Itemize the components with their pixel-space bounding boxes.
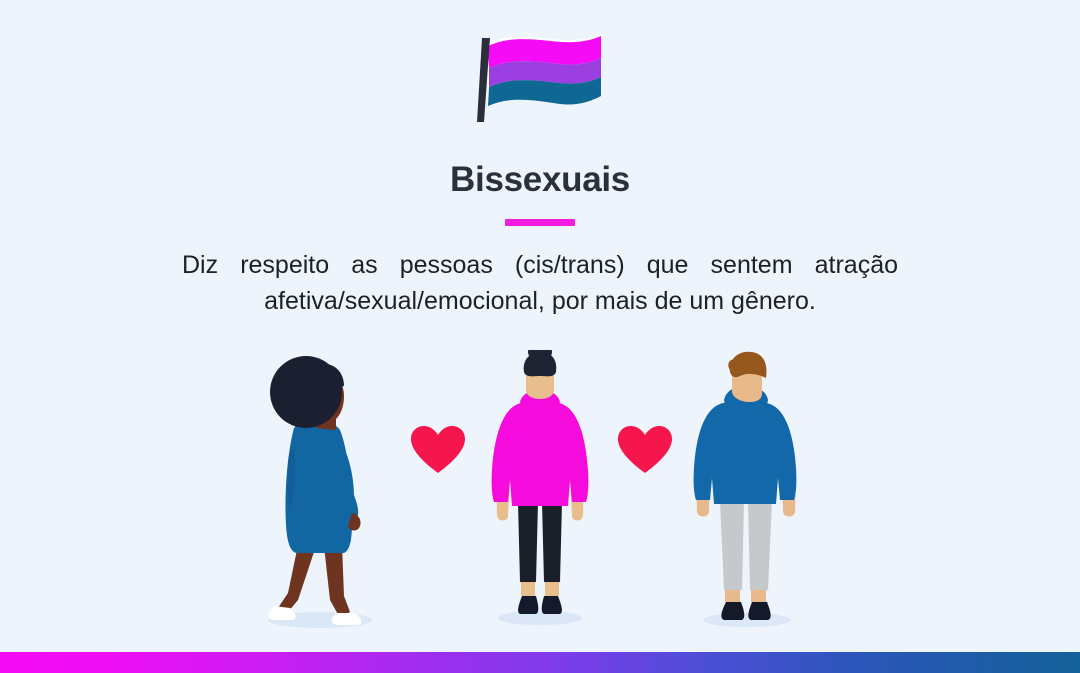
description-line-2: afetiva/sexual/emocional, por mais de um… bbox=[179, 283, 901, 319]
title-underline-rule bbox=[505, 219, 575, 226]
slide-canvas: Bissexuais Diz respeito as pessoas (cis/… bbox=[0, 0, 1080, 673]
heart-icon bbox=[410, 425, 466, 475]
illustration-stage bbox=[0, 330, 1080, 630]
description-line-1: Diz respeito as pessoas (cis/trans) que … bbox=[179, 247, 901, 283]
description-text: Diz respeito as pessoas (cis/trans) que … bbox=[179, 247, 901, 319]
bisexual-pride-flag-icon bbox=[470, 26, 610, 126]
page-title: Bissexuais bbox=[0, 158, 1080, 202]
person-right-figure bbox=[688, 350, 806, 630]
flag-container bbox=[0, 26, 1080, 126]
shadow-ellipse bbox=[498, 611, 582, 625]
heart-icon bbox=[617, 425, 673, 475]
person-left-figure bbox=[258, 350, 388, 630]
pride-gradient-bar bbox=[0, 652, 1080, 673]
shadow-ellipse bbox=[703, 613, 791, 627]
person-center-figure bbox=[484, 350, 596, 630]
